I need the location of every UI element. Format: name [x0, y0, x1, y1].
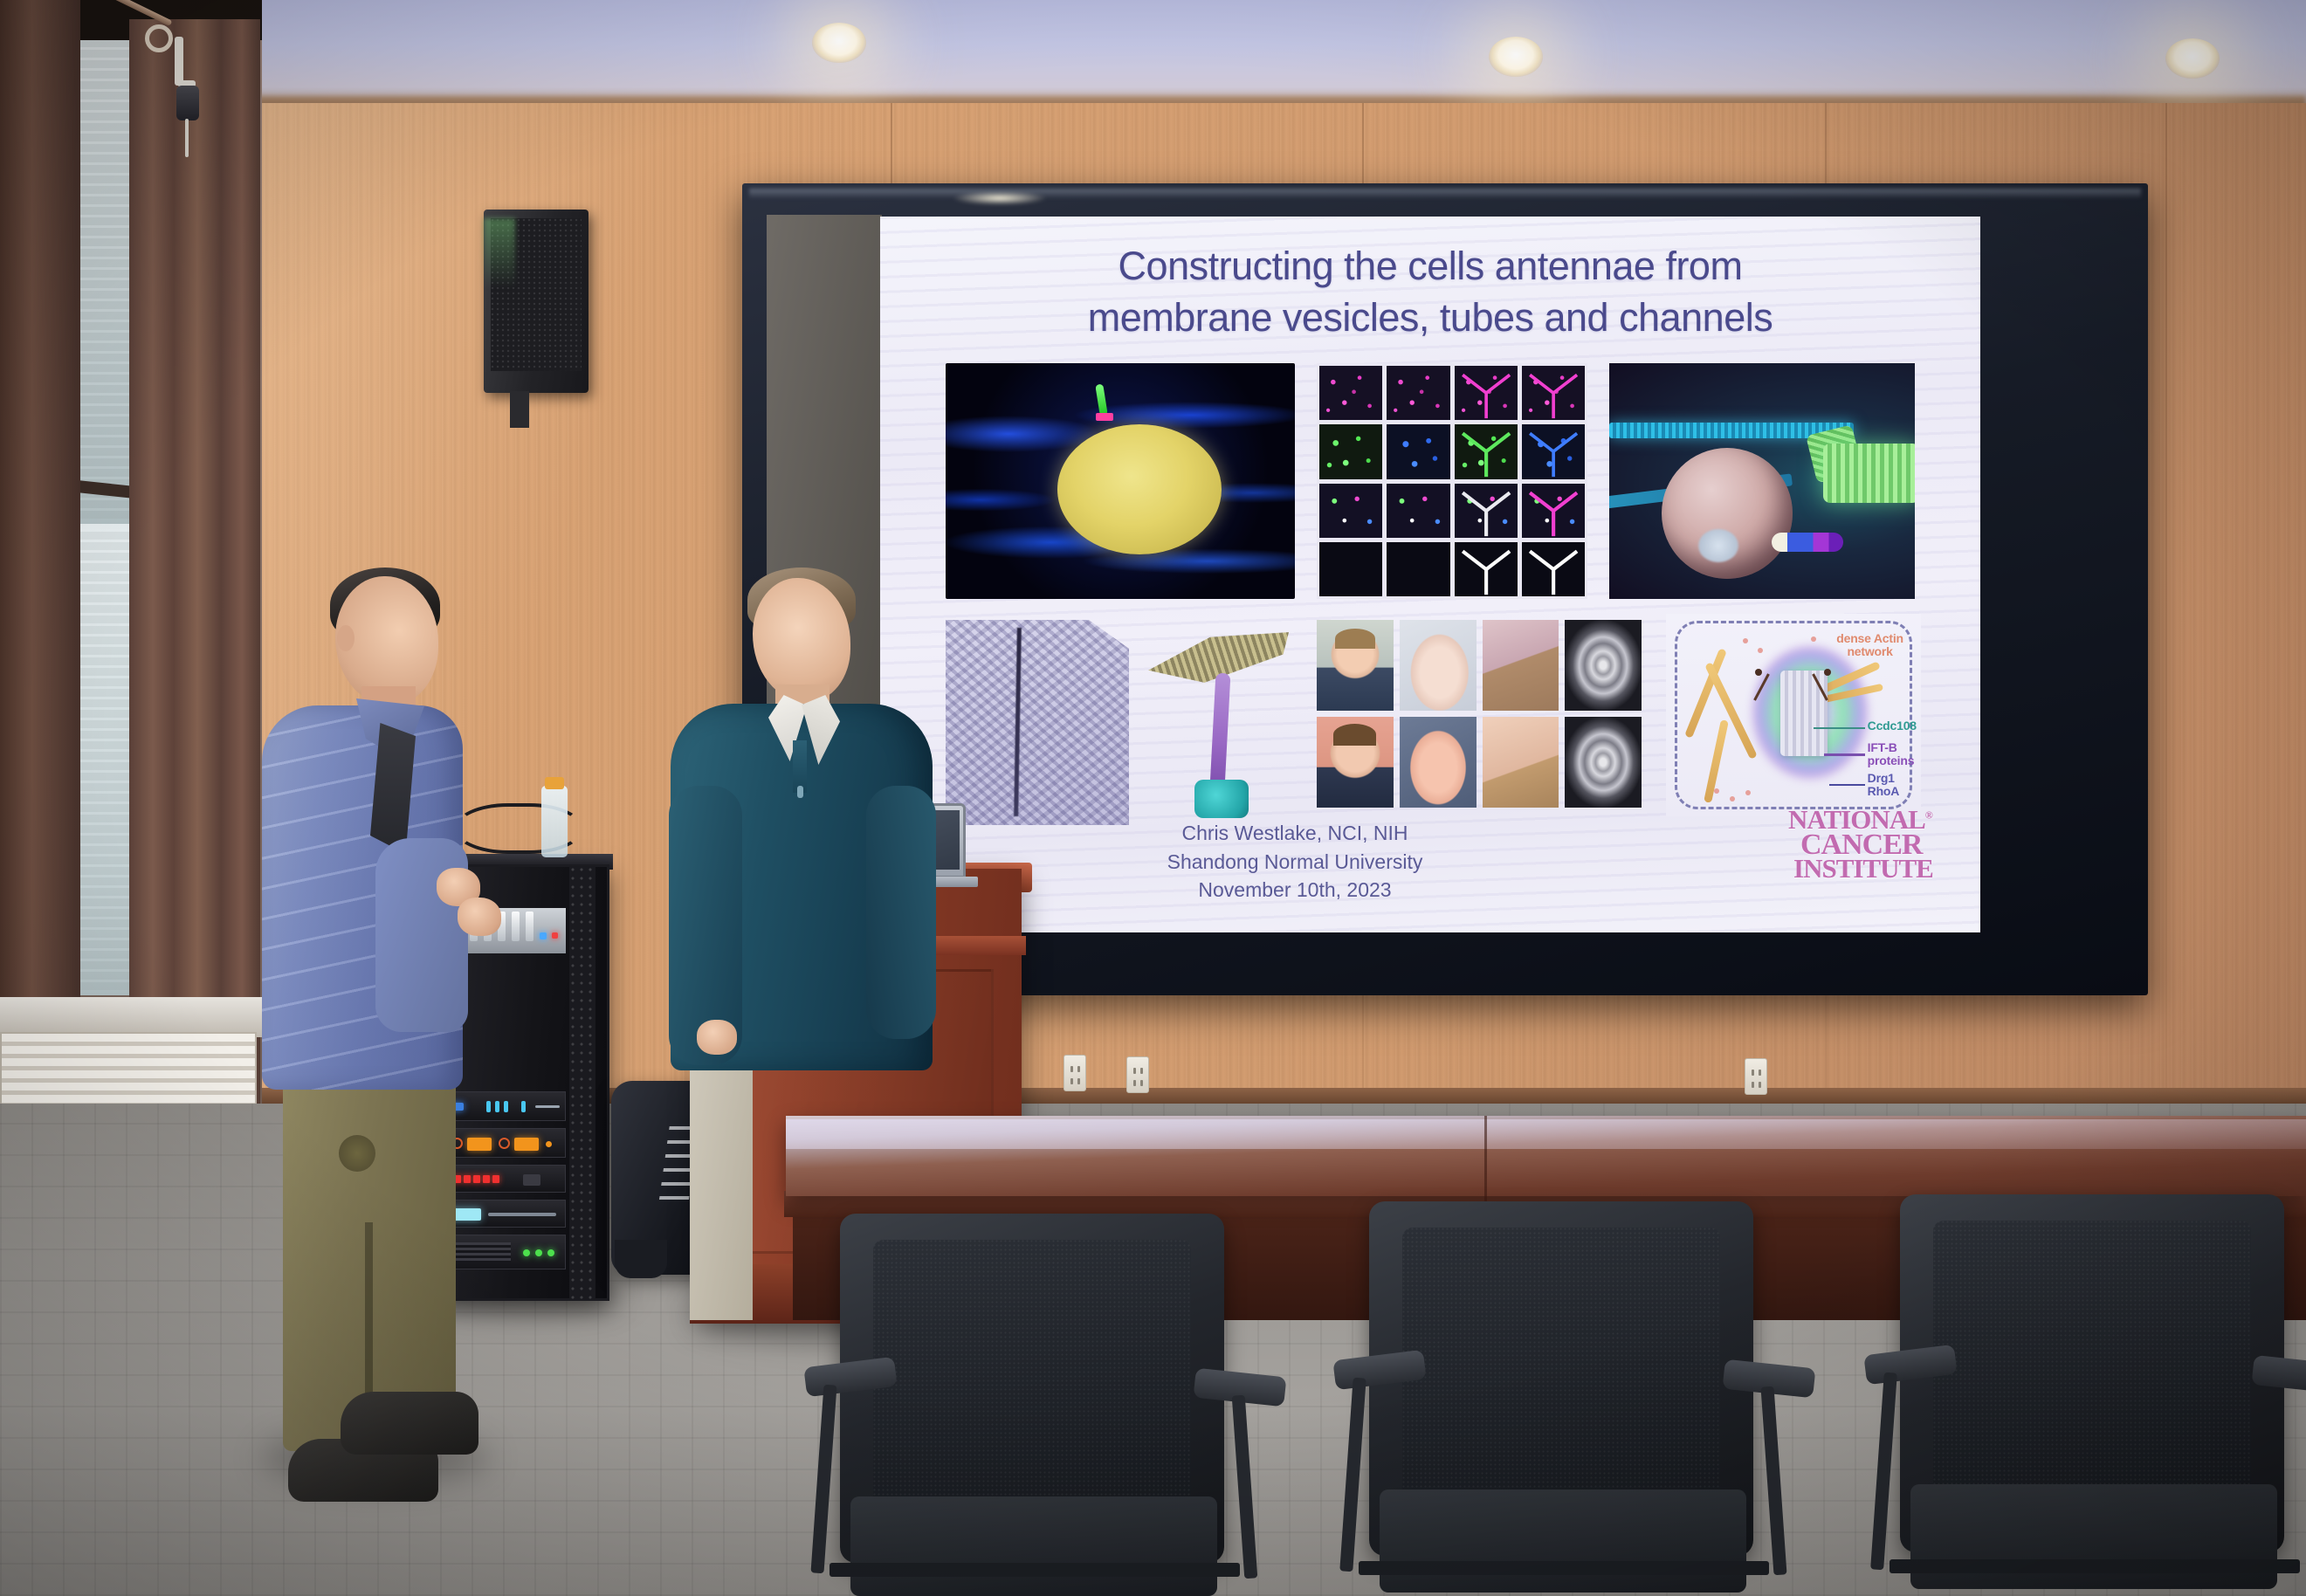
- presentation-slide[interactable]: Constructing the cells antennae from mem…: [880, 217, 1980, 932]
- speaker-zipper-pull: [797, 786, 803, 798]
- processor-led-cyan-1: [486, 1101, 491, 1112]
- chair-seat: [1910, 1484, 2277, 1589]
- fluorescence-cell: [1319, 542, 1382, 596]
- network-trace: [1522, 484, 1585, 538]
- fluorescence-cell: [1319, 366, 1382, 420]
- amplifier-indicator-1: [467, 1138, 492, 1151]
- security-camera: [176, 86, 199, 120]
- clinical-photo-brain-mri-axial: [1565, 620, 1642, 711]
- mixer-fader[interactable]: [512, 912, 520, 941]
- av-unit-player[interactable]: [437, 1200, 566, 1228]
- fluorescence-cell: [1522, 542, 1585, 596]
- schematic-label-ccdc108: Ccdc108: [1868, 719, 1917, 733]
- processor-display-bar: [535, 1105, 560, 1108]
- clinical-photo-patient-face-adult: [1317, 717, 1394, 808]
- registered-mark: ®: [1925, 809, 1932, 822]
- level-meter-led: [483, 1175, 490, 1183]
- host-ear: [337, 625, 355, 651]
- schematic-label-drg1-rhoa: Drg1 RhoA: [1868, 772, 1900, 797]
- ceiling: [0, 0, 2306, 112]
- em-3d-segmentation: [1142, 620, 1295, 825]
- clinical-photo-brain-mri-axial-2: [1565, 717, 1642, 808]
- leader-line-iftb: [1824, 753, 1865, 756]
- network-trace: [1455, 542, 1518, 596]
- chair-seat: [1380, 1489, 1746, 1593]
- amplifier-status-led: [546, 1141, 552, 1147]
- network-trace: [1522, 542, 1585, 596]
- clinical-photo-foot-adult: [1483, 717, 1559, 808]
- leader-line-ccdc108: [1814, 727, 1864, 730]
- chair-seat: [850, 1496, 1217, 1596]
- actin-label-line2: network: [1847, 644, 1892, 658]
- loudspeaker-bracket: [510, 391, 529, 428]
- lecture-hall-scene: Constructing the cells antennae from mem…: [0, 0, 2306, 1596]
- rhoa-label: RhoA: [1868, 784, 1900, 798]
- processor-led-cyan-4: [521, 1101, 526, 1112]
- appendage-pin-head-left: [1755, 669, 1762, 676]
- clinical-photo-patient-face-child: [1317, 620, 1394, 711]
- ceiling-downlight-3: [2165, 38, 2220, 79]
- network-trace: [1455, 366, 1518, 420]
- cell-immunofluorescence-image: [946, 363, 1295, 599]
- chair-base-rail: [1359, 1561, 1769, 1575]
- molecular-3d-render: [1609, 363, 1915, 599]
- network-trace: [1455, 484, 1518, 538]
- basal-body-marker: [1096, 413, 1113, 421]
- credits-presenter: Chris Westlake, NCI, NIH: [880, 819, 1710, 848]
- water-bottle-cap: [545, 777, 564, 789]
- av-unit-processor[interactable]: [437, 1091, 566, 1121]
- level-meter-led: [492, 1175, 499, 1183]
- mixer-led-red: [552, 932, 558, 939]
- vesicle-dot: [1743, 638, 1748, 643]
- network-trace: [1455, 424, 1518, 478]
- actin-label-line1: dense Actin: [1836, 631, 1903, 645]
- hair: [1335, 629, 1375, 649]
- host-hand-left: [458, 898, 501, 936]
- speaker-right-arm: [866, 786, 936, 1039]
- vesicle-dot: [1745, 790, 1751, 795]
- wall-outlet-4: [1745, 1058, 1767, 1095]
- segmentation-ciliary-stalk: [1209, 673, 1230, 788]
- av-unit-meter-panel[interactable]: [437, 1165, 566, 1193]
- wall-panel-seam-4: [2165, 103, 2167, 1098]
- hair: [1333, 724, 1376, 746]
- power-led: [523, 1249, 530, 1256]
- wall-outlet-2: [1064, 1055, 1086, 1091]
- fluorescence-cell: [1455, 366, 1518, 420]
- clinical-photo-hand-polydactyly: [1400, 620, 1477, 711]
- clinical-patient-photo-grid: [1317, 620, 1642, 808]
- drg1-label: Drg1: [1868, 771, 1895, 785]
- screen-bezel-light-glint: [952, 191, 1048, 205]
- curtain-grommet: [145, 24, 173, 52]
- processor-led-cyan-2: [495, 1101, 499, 1112]
- player-text-bar: [488, 1213, 556, 1216]
- mixer-led-blue: [540, 932, 547, 939]
- network-trace: [1522, 366, 1585, 420]
- speaker-hand: [697, 1020, 737, 1055]
- fluorescence-panel-grid: [1317, 363, 1587, 599]
- fluorescence-cell: [1387, 484, 1449, 538]
- centriole-cylinder: [1780, 671, 1828, 756]
- fluorescence-cell: [1455, 484, 1518, 538]
- power-led: [547, 1249, 554, 1256]
- fluorescence-cell: [1455, 542, 1518, 596]
- fluorescence-cell: [1319, 424, 1382, 478]
- conference-table-reflection: [786, 1119, 2306, 1149]
- speaker-sweater-placket: [793, 740, 807, 793]
- amplifier-knob-2[interactable]: [499, 1138, 510, 1149]
- network-trace: [1522, 424, 1585, 478]
- wall-outlet-3: [1126, 1056, 1149, 1093]
- fluorescence-cell: [1387, 424, 1449, 478]
- slide-title: Constructing the cells antennae from mem…: [933, 241, 1928, 343]
- ceiling-downlight-2: [1489, 37, 1543, 77]
- nci-logo-line-3: INSTITUTE: [1793, 857, 1972, 881]
- host-trouser-pocket: [339, 1135, 375, 1172]
- power-led: [535, 1249, 542, 1256]
- membrane-vesicle: [1662, 448, 1793, 579]
- security-camera-mount: [175, 37, 183, 86]
- schematic-label-iftb: IFT-B proteins: [1868, 741, 1915, 767]
- ceiling-downlight-1: [812, 23, 866, 63]
- centriole-actin-schematic: dense Actin network Ccdc108 IFT-B protei…: [1666, 614, 1921, 816]
- protein-complex: [1772, 533, 1843, 552]
- em-tomography-image: [946, 620, 1129, 825]
- av-unit-amplifier[interactable]: [437, 1128, 566, 1158]
- fluorescence-cell: [1387, 366, 1449, 420]
- vesicle-dot: [1811, 636, 1816, 642]
- host-shoe-right: [341, 1392, 478, 1455]
- chair-mesh-panel: [1402, 1228, 1720, 1521]
- appendage-pin-head-right: [1824, 669, 1831, 676]
- iftb-label-line2: proteins: [1868, 753, 1915, 767]
- mixer-fader[interactable]: [526, 912, 533, 941]
- backpack-strap: [615, 1240, 667, 1278]
- vesicle-dot: [1730, 796, 1735, 801]
- level-meter-led: [464, 1175, 471, 1183]
- vesicle-pore: [1698, 529, 1738, 562]
- segmentation-basal-body: [1194, 780, 1249, 818]
- speaker-trousers: [690, 1058, 753, 1320]
- level-meter-led: [473, 1175, 480, 1183]
- security-camera-cable: [185, 119, 189, 157]
- loudspeaker-reflection: [484, 218, 515, 288]
- meter-panel-button[interactable]: [523, 1174, 540, 1186]
- fluorescence-cell: [1455, 424, 1518, 478]
- fluorescence-cell: [1522, 424, 1585, 478]
- amplifier-indicator-2: [514, 1138, 539, 1151]
- centriole-barrel: [1823, 444, 1915, 503]
- chair-base-rail: [829, 1563, 1240, 1577]
- fluorescence-cell: [1319, 484, 1382, 538]
- fluorescence-cell: [1387, 542, 1449, 596]
- nci-logo: NATIONAL® CANCER INSTITUTE: [1788, 808, 1972, 889]
- slide-title-line-1: Constructing the cells antennae from: [933, 241, 1928, 292]
- processor-led-cyan-3: [504, 1101, 508, 1112]
- chair-mesh-panel: [873, 1240, 1191, 1528]
- clinical-photo-hand-adult: [1400, 717, 1477, 808]
- slide-title-line-2: membrane vesicles, tubes and channels: [933, 292, 1928, 344]
- ciliary-pocket-slit: [1014, 628, 1022, 816]
- iftb-label-line1: IFT-B: [1868, 740, 1897, 754]
- chair-mesh-panel: [1933, 1221, 2251, 1517]
- av-unit-power-supply[interactable]: [437, 1235, 566, 1269]
- schematic-label-actin: dense Actin network: [1824, 632, 1916, 657]
- fluorescence-cell: [1522, 484, 1585, 538]
- chair-base-rail: [1890, 1559, 2300, 1573]
- clinical-photo-foot-polydactyly: [1483, 620, 1559, 711]
- av-rack-ventilation-rail: [569, 866, 595, 1299]
- cell-nucleus: [1057, 424, 1222, 554]
- fluorescence-cell: [1522, 366, 1585, 420]
- leader-line-drg1: [1829, 784, 1865, 787]
- water-bottle: [541, 786, 568, 857]
